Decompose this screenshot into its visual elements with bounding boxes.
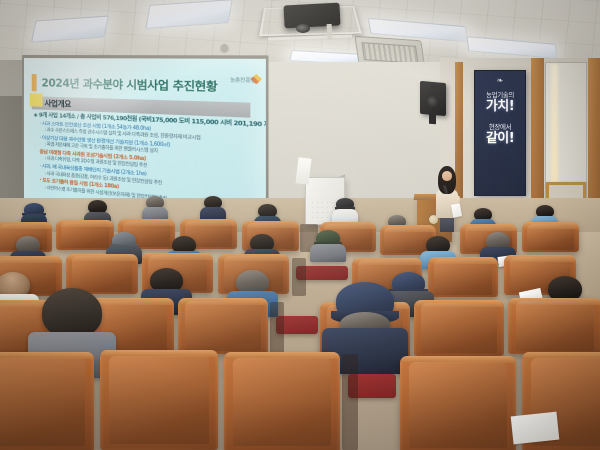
banner-line-4: 같이!	[486, 132, 514, 146]
sprinkler-icon	[221, 44, 228, 51]
banner-ornament-icon: ❧	[497, 77, 504, 85]
wall-speaker-bracket	[429, 114, 436, 125]
person-torso	[310, 244, 346, 262]
presenter	[433, 168, 461, 230]
banner-line-1: 농업기술의	[486, 89, 514, 99]
wall-speaker-icon	[420, 81, 446, 116]
seat	[100, 350, 218, 450]
projector-mount-post	[327, 24, 333, 40]
handout-paper	[511, 412, 560, 445]
audience-person	[204, 196, 222, 218]
seat-aisle-gap	[292, 258, 306, 296]
slide-title-bar: 2024년 과수분야 시범사업 추진현황	[32, 72, 253, 98]
audience-person	[88, 200, 107, 222]
wall-banner: ❧ 농업기술의 가치! 현장에서 같이!	[474, 70, 526, 196]
seat-aisle-gap	[342, 354, 358, 450]
presenter-documents	[451, 203, 462, 217]
slide-section-label: 사업개요	[44, 98, 71, 110]
presenter-legs	[440, 216, 454, 232]
audience-person	[316, 230, 340, 258]
seat	[428, 257, 498, 297]
banner-line-3: 현장에서	[489, 121, 511, 131]
person-head	[42, 288, 102, 338]
projector-lens-icon	[296, 24, 310, 33]
seat	[508, 298, 600, 354]
banner-line-2: 가치!	[486, 100, 514, 114]
seat	[414, 300, 504, 356]
audience-person	[146, 196, 164, 218]
ceiling-projector-icon	[283, 3, 340, 29]
seat	[224, 352, 340, 450]
seat	[56, 220, 114, 250]
audience-person	[336, 282, 394, 356]
audience-person	[42, 288, 102, 362]
slide-title: 2024년 과수분야 시범사업 추진현황	[42, 75, 218, 95]
presenter-face	[442, 171, 452, 181]
audience-person	[336, 198, 354, 220]
seat	[178, 298, 268, 354]
auditorium-photo: ❧ 농업기술의 가치! 현장에서 같이! 2024년 과수분야 시범사업 추진현…	[0, 0, 600, 450]
glasses-icon	[548, 290, 582, 293]
seat-aisle-gap	[270, 302, 284, 356]
slide-title-accent	[32, 74, 37, 91]
seat	[522, 222, 579, 252]
seat	[400, 356, 516, 450]
seat	[0, 352, 94, 450]
section-tag-icon	[30, 93, 43, 107]
